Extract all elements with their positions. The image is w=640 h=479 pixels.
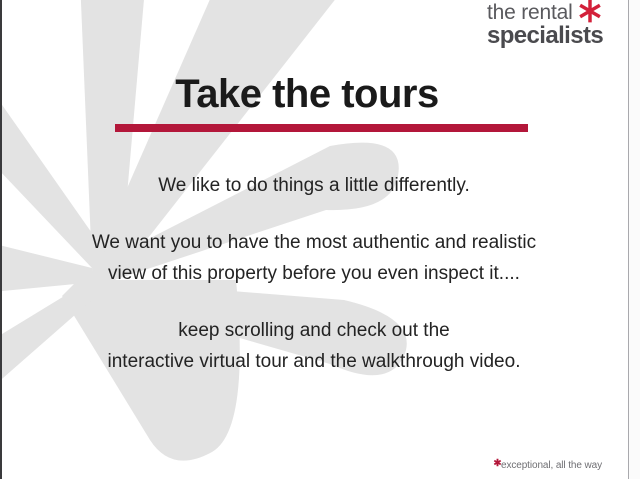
footer-tagline: exceptional, all the way [494, 460, 602, 471]
left-edge-rule [0, 0, 2, 479]
body-copy: We like to do things a little differentl… [0, 170, 628, 377]
right-edge-rule [628, 0, 629, 479]
paragraph-spacer [0, 289, 628, 315]
paragraph-spacer [0, 201, 628, 227]
asterisk-icon [577, 0, 603, 24]
title-underline-rule [115, 124, 528, 132]
paragraph-line: interactive virtual tour and the walkthr… [0, 346, 628, 377]
paragraph-line: We want you to have the most authentic a… [0, 227, 628, 258]
paragraph-line: view of this property before you even in… [0, 258, 628, 289]
footer-tagline-text: exceptional, all the way [494, 460, 602, 471]
right-margin-tint [629, 0, 640, 479]
paragraph-line: We like to do things a little differentl… [0, 170, 628, 201]
asterisk-icon [493, 458, 502, 467]
brand-logo: the rental specialists [487, 2, 603, 48]
slide-canvas: the rental specialists Take the tours We… [0, 0, 640, 479]
page-title: Take the tours [0, 72, 614, 117]
paragraph-line: keep scrolling and check out the [0, 315, 628, 346]
brand-logo-line2: specialists [487, 24, 603, 48]
